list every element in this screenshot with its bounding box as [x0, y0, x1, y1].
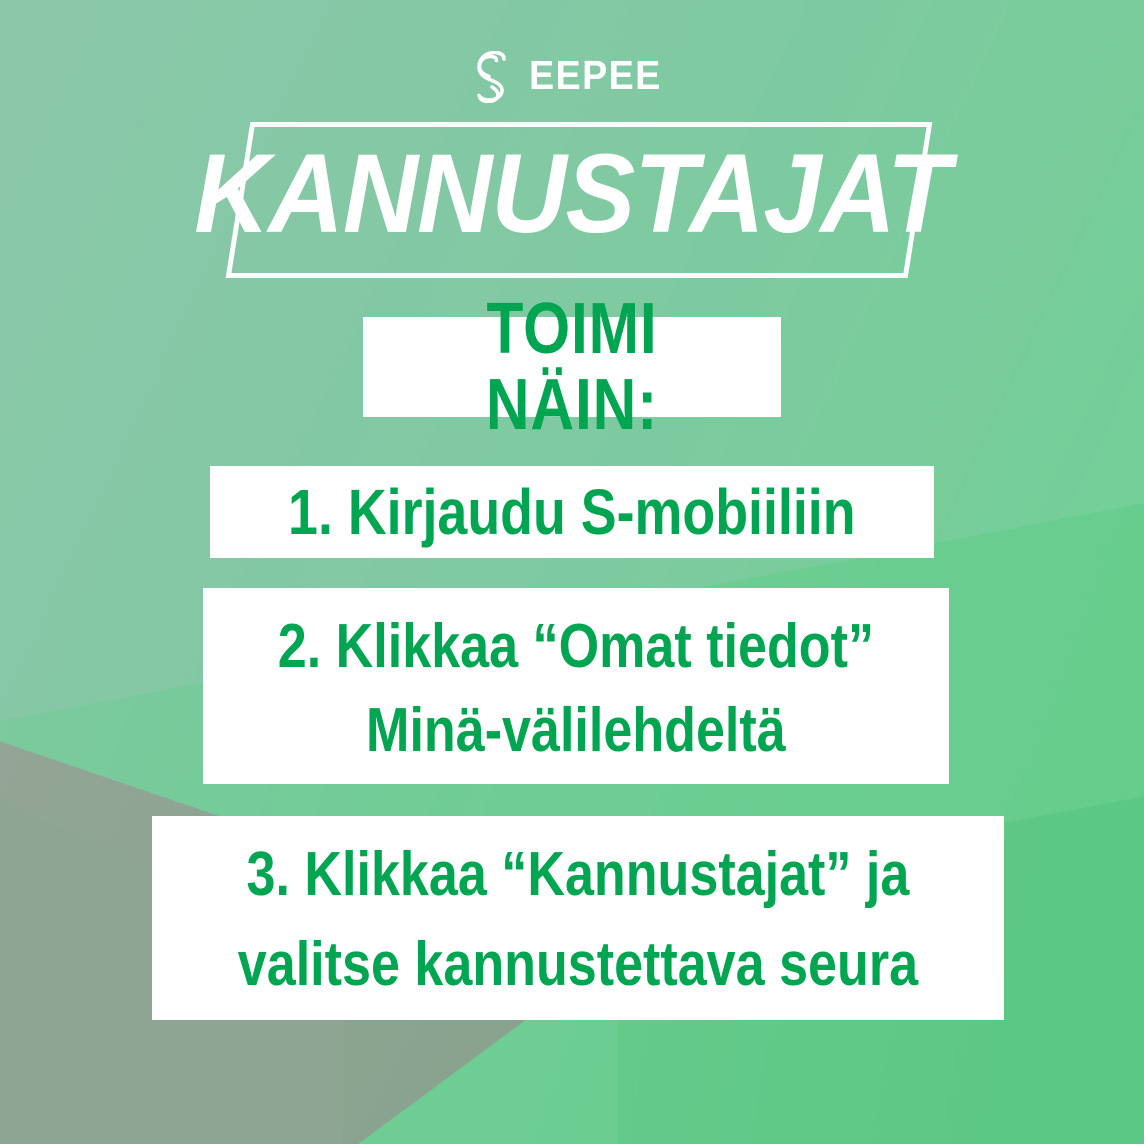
step-2-text: 2. Klikkaa “Omat tiedot” Minä-välilehdel… — [278, 605, 874, 773]
page-title: KANNUSTAJAT — [40, 132, 1104, 256]
instructions-heading-text: TOIMI NÄIN: — [396, 291, 747, 443]
step-1-text: 1. Kirjaudu S-mobiiliin — [288, 478, 855, 546]
step-3-text: 3. Klikkaa “Kannustajat” ja valitse kann… — [238, 830, 918, 1010]
brand-lockup: EEPEE — [0, 46, 1144, 108]
poster-canvas: EEPEE KANNUSTAJAT TOIMI NÄIN: 1. Kirjaud… — [0, 0, 1144, 1144]
step-2-box: 2. Klikkaa “Omat tiedot” Minä-välilehdel… — [203, 588, 949, 784]
step-1-box: 1. Kirjaudu S-mobiiliin — [210, 466, 934, 558]
s-group-s-mark-icon — [471, 51, 515, 103]
main-title-block: KANNUSTAJAT — [0, 122, 1144, 268]
instructions-heading-box: TOIMI NÄIN: — [363, 317, 781, 417]
brand-wordmark: EEPEE — [529, 55, 662, 99]
step-3-box: 3. Klikkaa “Kannustajat” ja valitse kann… — [152, 816, 1004, 1020]
